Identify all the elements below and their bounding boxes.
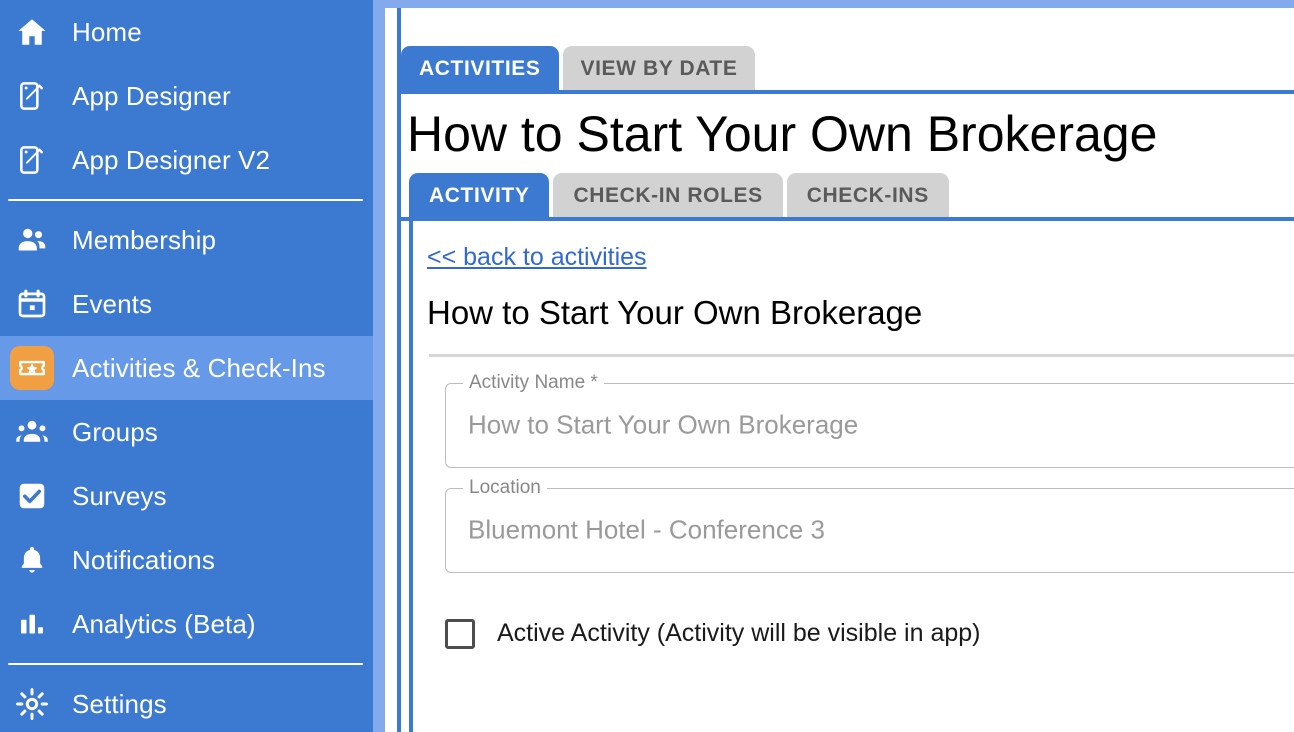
sidebar-item-label: Activities & Check-Ins bbox=[72, 355, 326, 381]
sidebar-item-home[interactable]: Home bbox=[0, 0, 373, 64]
secondary-tab-bar: ACTIVITY CHECK-IN ROLES CHECK-INS bbox=[401, 167, 1294, 217]
form-divider bbox=[429, 354, 1294, 357]
sidebar-item-settings[interactable]: Settings bbox=[0, 672, 373, 732]
location-value: Bluemont Hotel - Conference 3 bbox=[468, 515, 825, 546]
primary-tab-bar: ACTIVITIES VIEW BY DATE bbox=[401, 38, 1294, 90]
active-activity-row: Active Activity (Activity will be visibl… bbox=[445, 619, 1294, 649]
groups-icon bbox=[10, 410, 54, 454]
ticket-star-icon bbox=[10, 346, 54, 390]
tab-activities[interactable]: ACTIVITIES bbox=[401, 46, 559, 90]
sidebar-item-analytics[interactable]: Analytics (Beta) bbox=[0, 592, 373, 656]
sidebar-item-label: Notifications bbox=[72, 547, 215, 573]
main-content-frame: ACTIVITIES VIEW BY DATE How to Start You… bbox=[373, 0, 1294, 732]
calendar-icon bbox=[10, 282, 54, 326]
tab-check-ins[interactable]: CHECK-INS bbox=[787, 173, 949, 217]
sidebar-item-events[interactable]: Events bbox=[0, 272, 373, 336]
sidebar-item-label: Groups bbox=[72, 419, 158, 445]
sidebar-item-label: Settings bbox=[72, 691, 167, 717]
mobile-app-icon bbox=[10, 138, 54, 182]
back-to-activities-link[interactable]: << back to activities bbox=[427, 243, 647, 272]
gear-icon bbox=[10, 682, 54, 726]
location-field[interactable]: Location Bluemont Hotel - Conference 3 bbox=[445, 488, 1294, 573]
people-icon bbox=[10, 218, 54, 262]
location-label: Location bbox=[463, 478, 547, 497]
sidebar-item-label: Membership bbox=[72, 227, 216, 253]
sidebar-item-label: Events bbox=[72, 291, 152, 317]
sidebar-item-surveys[interactable]: Surveys bbox=[0, 464, 373, 528]
sidebar-item-app-designer[interactable]: App Designer bbox=[0, 64, 373, 128]
checkbox-checked-icon bbox=[10, 474, 54, 518]
sidebar-item-app-designer-v2[interactable]: App Designer V2 bbox=[0, 128, 373, 192]
sidebar-divider-bottom bbox=[8, 663, 363, 665]
sidebar-item-label: App Designer bbox=[72, 83, 231, 109]
sidebar-item-activities-and-check-ins[interactable]: Activities & Check-Ins bbox=[0, 336, 373, 400]
sidebar-divider-top bbox=[8, 199, 363, 201]
sidebar-item-groups[interactable]: Groups bbox=[0, 400, 373, 464]
page-title: How to Start Your Own Brokerage bbox=[401, 94, 1294, 167]
tab-view-by-date[interactable]: VIEW BY DATE bbox=[563, 46, 756, 90]
home-icon bbox=[10, 10, 54, 54]
tab-activity[interactable]: ACTIVITY bbox=[409, 173, 549, 217]
active-activity-label: Active Activity (Activity will be visibl… bbox=[497, 619, 980, 648]
activity-name-value: How to Start Your Own Brokerage bbox=[468, 410, 858, 441]
sidebar-item-notifications[interactable]: Notifications bbox=[0, 528, 373, 592]
sidebar-item-membership[interactable]: Membership bbox=[0, 208, 373, 272]
bell-icon bbox=[10, 538, 54, 582]
sidebar-navigation: Home App Designer bbox=[0, 0, 373, 732]
active-activity-checkbox[interactable] bbox=[445, 619, 475, 649]
sidebar-item-label: Surveys bbox=[72, 483, 167, 509]
sidebar-item-list: Home App Designer bbox=[0, 0, 373, 732]
tab-check-in-roles[interactable]: CHECK-IN ROLES bbox=[553, 173, 782, 217]
application-window: Home App Designer bbox=[0, 0, 1294, 732]
mobile-app-icon bbox=[10, 74, 54, 118]
sidebar-item-label: Analytics (Beta) bbox=[72, 611, 256, 637]
activity-name-label: Activity Name * bbox=[463, 373, 604, 392]
sidebar-item-label: Home bbox=[72, 19, 142, 45]
form-heading: How to Start Your Own Brokerage bbox=[427, 294, 1294, 332]
activities-page-panel: ACTIVITIES VIEW BY DATE How to Start You… bbox=[397, 8, 1294, 732]
activity-form-card: << back to activities How to Start Your … bbox=[409, 221, 1294, 732]
sidebar-item-label: App Designer V2 bbox=[72, 147, 270, 173]
activity-name-field[interactable]: Activity Name * How to Start Your Own Br… bbox=[445, 383, 1294, 468]
bar-chart-icon bbox=[10, 602, 54, 646]
